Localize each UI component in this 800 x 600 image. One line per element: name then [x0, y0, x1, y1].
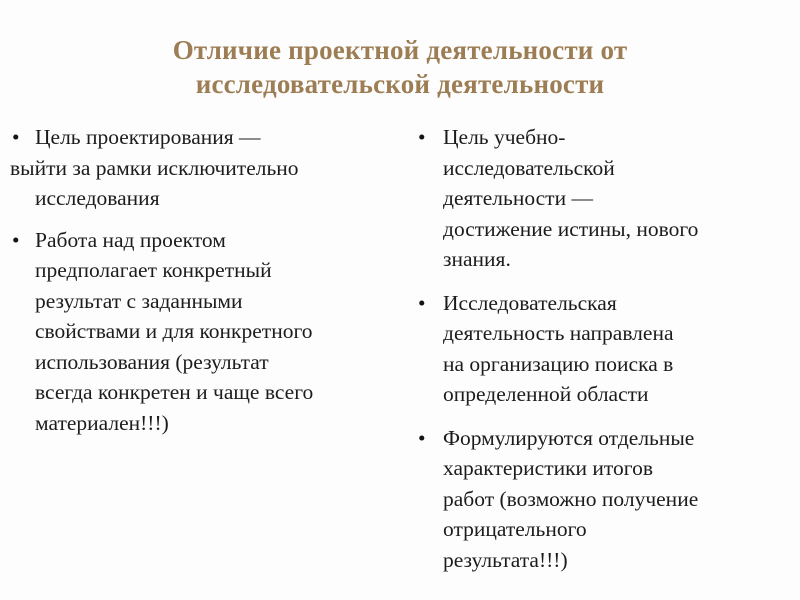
list-item-line: на организацию поиска в	[443, 349, 796, 380]
slide-body-columns: • Цель проектирования — выйти за рамки и…	[0, 122, 800, 562]
bullet-icon: •	[418, 288, 438, 319]
bullet-icon: •	[12, 122, 32, 153]
left-column: • Цель проектирования — выйти за рамки и…	[8, 122, 403, 438]
list-item-text: Работа над проектом предполагает конкрет…	[8, 225, 403, 439]
list-item-line: знания.	[443, 244, 796, 275]
bullet-icon: •	[418, 423, 438, 454]
right-column: • Цель учебно- исследовательской деятель…	[412, 122, 796, 575]
list-item-line: результат с заданными	[35, 286, 403, 317]
list-item-line: использования (результат	[35, 347, 403, 378]
list-item-line: Исследовательская	[443, 288, 796, 319]
list-item-line: Цель проектирования —	[35, 122, 403, 153]
list-item-text: Цель учебно- исследовательской деятельно…	[412, 122, 796, 275]
list-item-line: Работа над проектом	[35, 225, 403, 256]
list-item-text: Формулируются отдельные характеристики и…	[412, 423, 796, 576]
list-item-line: Формулируются отдельные	[443, 423, 796, 454]
bullet-icon: •	[12, 225, 32, 256]
list-item-line: Цель учебно-	[443, 122, 796, 153]
list-item-line: отрицательного	[443, 514, 796, 545]
list-item-line: результата!!!)	[443, 545, 796, 576]
list-item: • Исследовательская деятельность направл…	[412, 288, 796, 410]
list-item: • Формулируются отдельные характеристики…	[412, 423, 796, 576]
list-item-line: предполагает конкретный	[35, 255, 403, 286]
list-item-line: достижение истины, нового	[443, 214, 796, 245]
slide-title: Отличие проектной деятельности от исслед…	[60, 33, 740, 101]
list-item-line: выйти за рамки исключительно	[10, 153, 403, 184]
list-item-line: работ (возможно получение	[443, 484, 796, 515]
list-item-line: определенной области	[443, 379, 796, 410]
presentation-slide: Отличие проектной деятельности от исслед…	[0, 0, 800, 600]
slide-title-line-1: Отличие проектной деятельности от	[60, 33, 740, 67]
list-item-line: деятельности —	[443, 183, 796, 214]
list-item: • Работа над проектом предполагает конкр…	[8, 225, 403, 439]
list-item-line: деятельность направлена	[443, 318, 796, 349]
slide-title-line-2: исследовательской деятельности	[60, 67, 740, 101]
list-item: • Цель учебно- исследовательской деятель…	[412, 122, 796, 275]
bullet-icon: •	[418, 122, 438, 153]
list-item-line: свойствами и для конкретного	[35, 316, 403, 347]
list-item-line: всегда конкретен и чаще всего	[35, 377, 403, 408]
list-item-line: материален!!!)	[35, 408, 403, 439]
list-item-text: Исследовательская деятельность направлен…	[412, 288, 796, 410]
list-item-text: Цель проектирования — выйти за рамки иск…	[8, 122, 403, 214]
list-item-line: характеристики итогов	[443, 453, 796, 484]
list-item-line: исследовательской	[443, 153, 796, 184]
list-item: • Цель проектирования — выйти за рамки и…	[8, 122, 403, 214]
list-item-line: исследования	[35, 183, 403, 214]
